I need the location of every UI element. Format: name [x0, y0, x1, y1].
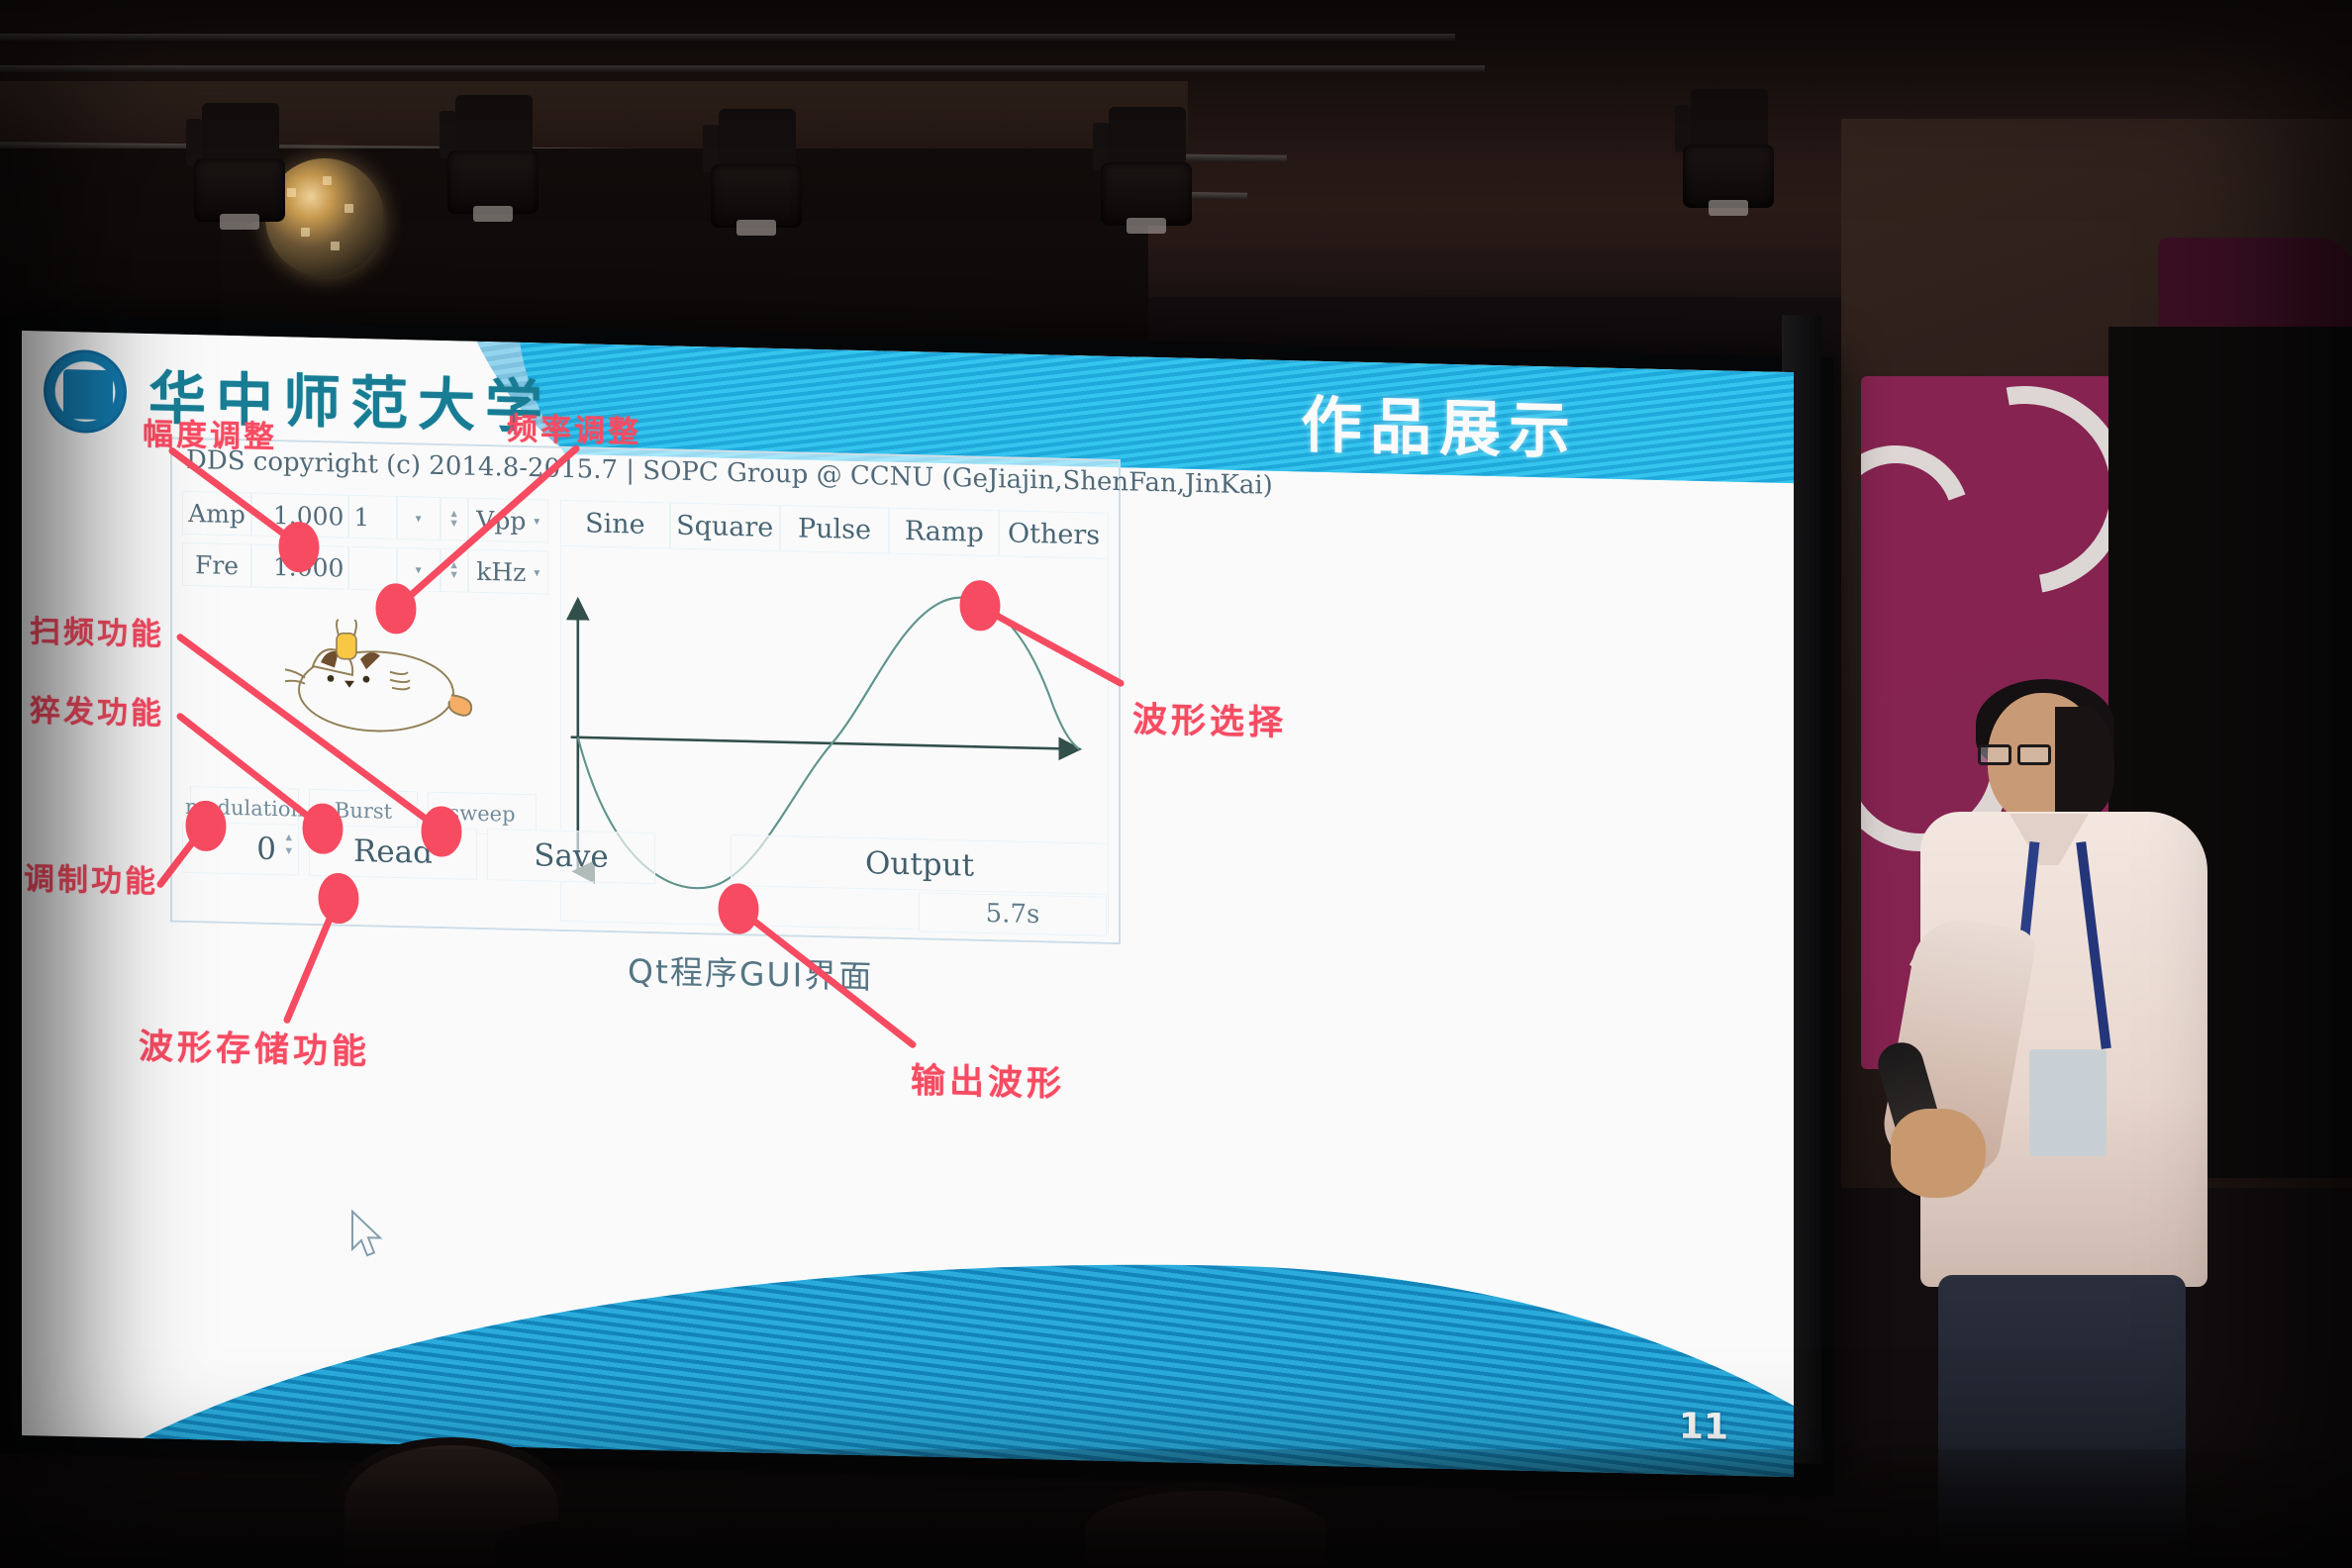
tab-ramp[interactable]: Ramp [889, 508, 999, 556]
slide-caption: Qt程序GUI界面 [628, 944, 873, 998]
presenter-hand [1891, 1109, 1986, 1198]
annotation-freq: 频率调整 [507, 404, 641, 451]
amp-value[interactable]: 1.000 [251, 492, 348, 538]
save-button[interactable]: Save [487, 829, 655, 884]
fre-unit-select[interactable]: kHz ▾ [468, 549, 548, 595]
annotation-burst: 猝发功能 [30, 685, 164, 733]
amp-dropdown-icon[interactable]: ▾ [397, 496, 441, 540]
university-logo: 华 华中师范大学 [44, 349, 552, 444]
frequency-field-row: Fre 1.000 ▾ ▴ ▾ kHz ▾ [182, 542, 548, 595]
annotation-amp: 幅度调整 [143, 409, 277, 456]
foreground-shadow [0, 1449, 2352, 1568]
tab-sine[interactable]: Sine [560, 500, 670, 548]
spacer [665, 833, 721, 885]
fre-extra-value[interactable] [348, 546, 396, 591]
tab-pulse[interactable]: Pulse [780, 505, 890, 553]
annotation-storage: 波形存储功能 [139, 1019, 370, 1075]
ceiling-beam [0, 81, 1188, 150]
fre-dropdown-icon[interactable]: ▾ [397, 547, 441, 592]
presenter-glasses [1978, 744, 2051, 766]
qt-application-window: DDS copyright (c) 2014.8-2015.7 | SOPC G… [170, 438, 1121, 945]
mouse-cursor-icon [348, 1210, 388, 1262]
annotation-waveselect: 波形选择 [1132, 691, 1287, 745]
truss-bar [0, 34, 1455, 41]
fre-value[interactable]: 1.000 [251, 543, 348, 589]
truss-bar [0, 65, 1485, 72]
amp-unit-select[interactable]: Vpp ▾ [468, 498, 548, 543]
presentation-photo: 华 华中师范大学 作品展示 11 DDS copyright (c) 2014.… [0, 0, 2352, 1568]
annotation-output: 输出波形 [911, 1052, 1065, 1107]
slide-title: 作品展示 [1301, 374, 1578, 470]
page-number: 11 [1679, 1406, 1728, 1447]
status-time: 5.7s [919, 892, 1107, 935]
annotation-modulation: 调制功能 [24, 853, 158, 901]
pusheen-cat-icon [269, 618, 477, 741]
university-seal-icon: 华 [44, 349, 127, 435]
presenter [1881, 693, 2237, 1564]
wave-index-spinner[interactable]: 0 ▴▾ [182, 822, 299, 876]
presenter-hair-side [2055, 707, 2114, 816]
tab-others[interactable]: Others [999, 510, 1109, 558]
tab-square[interactable]: Square [670, 502, 780, 550]
annotation-sweep: 扫频功能 [30, 606, 164, 653]
amp-label: Amp [182, 491, 251, 537]
fre-label: Fre [182, 542, 251, 588]
read-button[interactable]: Read [309, 825, 477, 880]
output-button[interactable]: Output [731, 834, 1109, 895]
seal-glyph: 华 [47, 370, 130, 421]
fre-stepper[interactable]: ▴ ▾ [441, 548, 468, 593]
presenter-badge [2029, 1049, 2107, 1156]
amp-stepper[interactable]: ▴ ▾ [441, 497, 468, 541]
amplitude-field-row: Amp 1.000 1 ▾ ▴ ▾ Vpp ▾ [182, 491, 548, 543]
amp-extra-value[interactable]: 1 [348, 495, 396, 539]
projected-slide: 华 华中师范大学 作品展示 11 DDS copyright (c) 2014.… [22, 331, 1794, 1477]
spinner-arrows-icon[interactable]: ▴▾ [285, 831, 292, 858]
slide-footer-wave [22, 1235, 1794, 1477]
